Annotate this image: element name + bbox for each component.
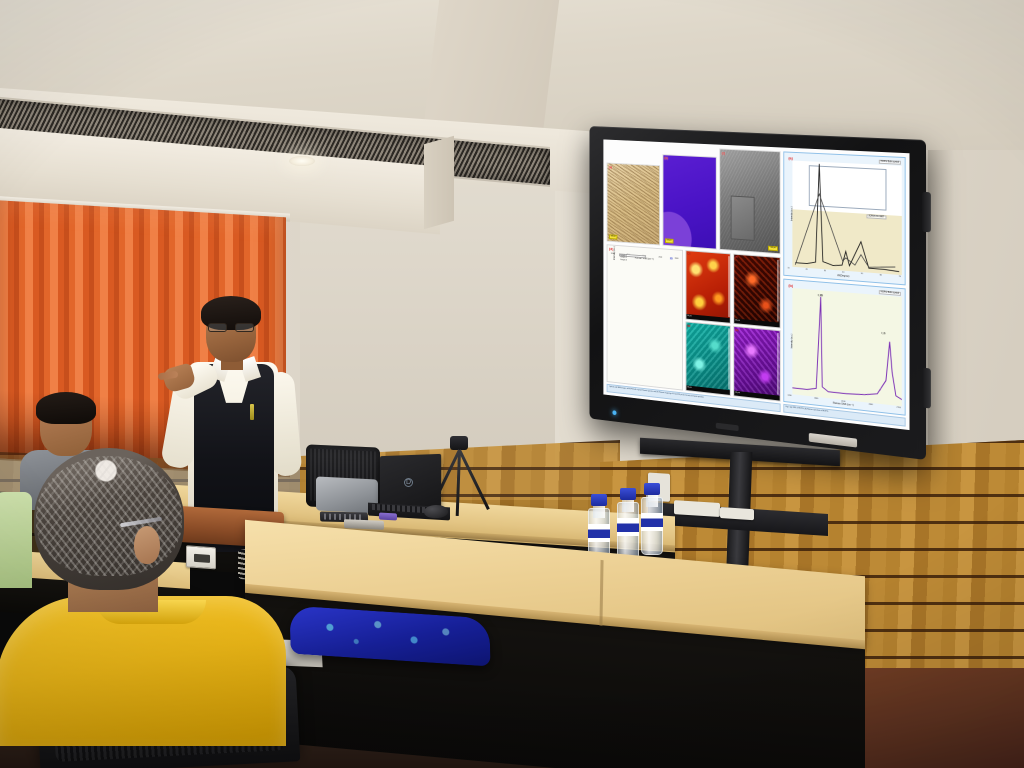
legend-entry-2: Sample 3: [620, 259, 643, 263]
raman-multi-legend: Sample 1 Sample 2 Sample 3: [619, 253, 646, 258]
tripod-leg-2: [458, 449, 490, 510]
presenter-remote-control[interactable]: [344, 519, 384, 530]
xtick: 3000: [675, 257, 679, 259]
scalebar-e: 10 µm: [686, 314, 730, 323]
interactive-flat-panel-display[interactable]: (a) 500 µm (b) 200 µm (c): [589, 126, 926, 460]
display-speaker-bottom: [922, 368, 931, 409]
water-bottle-2[interactable]: [617, 486, 639, 560]
micrograph-c: (c) 100 µm: [719, 148, 780, 253]
colorbar-f: [777, 259, 779, 321]
audience-foreground-person: [10, 448, 290, 728]
display-brand-logo: [809, 433, 857, 448]
audience-foreground-ear: [134, 526, 160, 564]
raman-map-f: (f) 10 µm: [733, 253, 780, 328]
glasses-lens-right: [235, 323, 254, 332]
presentation-slide: (a) 500 µm (b) 200 µm (c): [603, 139, 909, 430]
colorbar-g: [728, 328, 730, 389]
conference-room-photo: (a) 500 µm (b) 200 µm (c): [0, 0, 1024, 768]
power-led-icon: [612, 410, 616, 415]
colorbar-h: [777, 333, 779, 395]
display-screen[interactable]: (a) 500 µm (b) 200 µm (c): [603, 139, 909, 430]
raman-annot-2d: I_2D: [818, 294, 823, 297]
audience-rear-hair: [36, 392, 96, 424]
raman-chart-card: (b) HOPG Bulk crystal Intensity (a.u.) I…: [783, 278, 906, 416]
slide-lower-row: (d) Intensity (a.u.) Sample 1 Sample 2 S…: [607, 244, 781, 402]
slide-right-column: (a) HOPG Bulk crystal Intensity (a.u.) J…: [783, 151, 906, 415]
panel-tag-a: (a): [609, 165, 612, 169]
tripod-leg-1: [456, 450, 461, 516]
micrograph-c-inset: [731, 196, 755, 241]
display-bezel: (a) 500 µm (b) 200 µm (c): [589, 126, 926, 460]
micrograph-a: (a) 500 µm: [607, 163, 660, 245]
display-speaker-top: [922, 192, 931, 233]
shelf-paper-2: [720, 507, 754, 520]
panel-tag-h: (h): [735, 328, 738, 332]
glasses-lens-left: [208, 323, 227, 332]
shelf-paper-1: [674, 500, 720, 517]
slide-left-column: (a) 500 µm (b) 200 µm (c): [607, 143, 781, 401]
raman-curve: [792, 287, 902, 405]
slide-body: (a) 500 µm (b) 200 µm (c): [607, 143, 906, 415]
raman-map-grid: (e) 10 µm (f) 10 µm: [685, 250, 780, 402]
raman-multi-panel: (d) Intensity (a.u.) Sample 1 Sample 2 S…: [607, 244, 683, 391]
glasses-icon: [208, 323, 254, 332]
water-bottle-3[interactable]: [641, 481, 663, 555]
raman-map-h: (h) 10 µm: [733, 326, 780, 402]
panel-tag-d: (d): [609, 246, 613, 251]
raman-annot-g: I_G: [882, 332, 886, 335]
colorbar-e: [728, 256, 730, 317]
raman-multi-peak-2d: 2D: [670, 257, 673, 260]
purple-marker[interactable]: [379, 512, 397, 520]
scalebar-c: 100 µm: [768, 246, 777, 251]
raman-plot-area: Intensity (a.u.) I_2D I_G: [792, 287, 902, 405]
xrd-plot-area: Intensity (a.u.) JCPDS 41-1487: [792, 161, 902, 276]
micrograph-row: (a) 500 µm (b) 200 µm (c): [607, 143, 781, 254]
panel-tag-b: (b): [664, 156, 668, 160]
panel-tag-xrd: (a): [788, 156, 792, 161]
panel-tag-c: (c): [722, 151, 726, 155]
presenter-pocket-pen: [250, 404, 254, 420]
scalebar-f: 10 µm: [734, 318, 779, 327]
panel-tag-raman: (b): [788, 282, 793, 287]
micrograph-b: (b) 200 µm: [662, 154, 717, 249]
panel-tag-e: (e): [687, 251, 690, 255]
ceiling-downlight-icon: [289, 156, 315, 166]
xrd-chart-card: (a) HOPG Bulk crystal Intensity (a.u.) J…: [783, 151, 906, 284]
raman-map-g: (g) 10 µm: [685, 321, 731, 396]
dell-logo-icon: D: [404, 478, 413, 487]
wall-corner-shadow: [928, 120, 954, 470]
scalebar-a: 500 µm: [609, 234, 617, 239]
soffit-edge: [424, 136, 454, 230]
panel-tag-f: (f): [735, 255, 738, 259]
raman-multi-ylabel: Intensity (a.u.): [613, 246, 615, 260]
raman-map-e: (e) 10 µm: [685, 250, 731, 324]
ir-sensor-icon: [716, 423, 739, 431]
tripod-camera-head: [450, 436, 468, 450]
panel-tag-g: (g): [687, 323, 690, 327]
scalebar-b: 200 µm: [665, 238, 674, 243]
xtick: 2500: [658, 256, 662, 258]
